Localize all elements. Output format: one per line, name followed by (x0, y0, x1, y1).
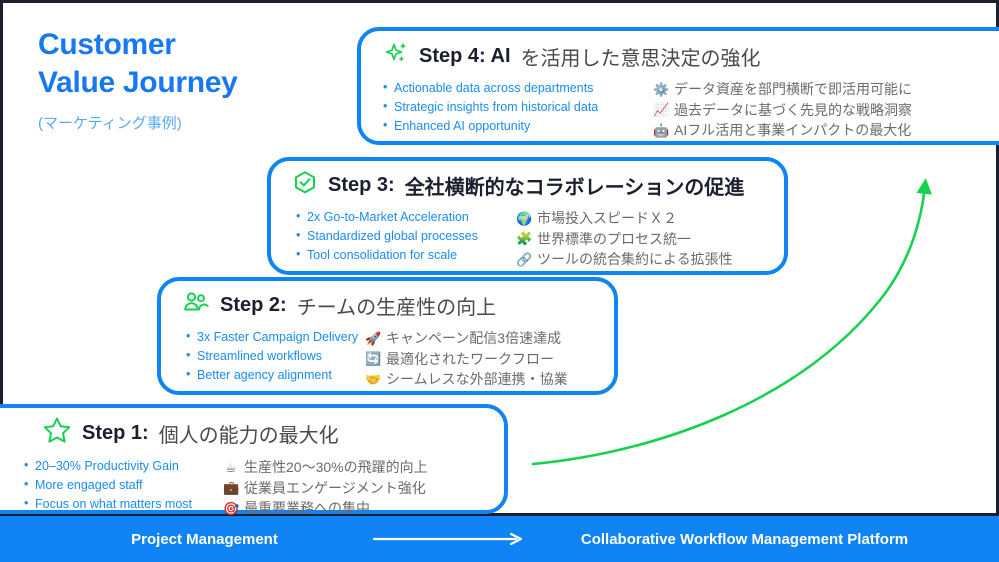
outcome-text: 生産性20〜30%の飛躍的向上 (244, 457, 428, 478)
gear-icon: ⚙️ (653, 80, 669, 99)
hexagon-check-icon (292, 170, 318, 201)
step-2-body: 3x Faster Campaign Delivery Streamlined … (186, 328, 614, 390)
step-4-header: Step 4: AI を活用した意思決定の強化 (383, 41, 999, 72)
bullet-item: Better agency alignment (186, 366, 359, 385)
step-3-header: Step 3: 全社横断的なコラボレーションの促進 (292, 170, 784, 201)
title-line-1: Customer (38, 26, 358, 64)
step-2-bullets: 3x Faster Campaign Delivery Streamlined … (186, 328, 359, 385)
outcome-item: 🤖 AIフル活用と事業インパクトの最大化 (653, 120, 912, 141)
outcome-item: 🚀 キャンペーン配信3倍速達成 (365, 328, 568, 349)
step-1-body: 20–30% Productivity Gain More engaged st… (24, 457, 504, 519)
step-3-label: Step 3: (328, 174, 395, 197)
step-1-label: Step 1: (82, 422, 149, 445)
outcome-text: 世界標準のプロセス統一 (537, 229, 691, 250)
arrow-right-icon (370, 531, 530, 547)
outcome-text: 従業員エンゲージメント強化 (244, 478, 426, 499)
outcome-text: データ資産を部門横断で即活用可能に (674, 79, 912, 100)
page-subtitle: (マーケティング事例) (38, 115, 358, 133)
step-3-outcomes: 🌍 市場投入スピードＸ２ 🧩 世界標準のプロセス統一 🔗 ツールの統合集約による… (516, 208, 733, 270)
step-2-header: Step 2: チームの生産性の向上 (182, 290, 614, 321)
bullet-item: 20–30% Productivity Gain (24, 457, 217, 476)
sparkles-icon (383, 41, 409, 72)
slide-canvas: Customer Value Journey (マーケティング事例) Step … (0, 0, 999, 562)
step-4-label: Step 4: AI (419, 45, 511, 68)
step-card-1[interactable]: Step 1: 個人の能力の最大化 20–30% Productivity Ga… (0, 404, 508, 514)
outcome-text: シームレスな外部連携・協業 (386, 369, 568, 390)
bottom-transition-bar: Project Management Collaborative Workflo… (0, 516, 999, 562)
outcome-item: 🔗 ツールの統合集約による拡張性 (516, 249, 733, 270)
handshake-icon: 🤝 (365, 370, 381, 389)
star-icon (42, 416, 72, 450)
step-2-outcomes: 🚀 キャンペーン配信3倍速達成 🔄 最適化されたワークフロー 🤝 シームレスな外… (365, 328, 568, 390)
outcome-text: 最適化されたワークフロー (386, 349, 554, 370)
step-1-outcomes: ☕ 生産性20〜30%の飛躍的向上 💼 従業員エンゲージメント強化 🎯 最重要業… (223, 457, 428, 519)
outcome-text: 過去データに基づく先見的な戦略洞察 (674, 100, 912, 121)
outcome-item: 🧩 世界標準のプロセス統一 (516, 229, 733, 250)
step-2-label: Step 2: (220, 294, 287, 317)
bullet-item: Tool consolidation for scale (296, 246, 510, 265)
globe-icon: 🌍 (516, 209, 532, 228)
step-3-body: 2x Go-to-Market Acceleration Standardize… (296, 208, 784, 270)
bullet-item: 2x Go-to-Market Acceleration (296, 208, 510, 227)
robot-icon: 🤖 (653, 121, 669, 140)
outcome-text: キャンペーン配信3倍速達成 (386, 328, 561, 349)
bar-left-label: Project Management (40, 531, 370, 548)
step-1-header: Step 1: 個人の能力の最大化 (42, 416, 504, 450)
step-card-2[interactable]: Step 2: チームの生産性の向上 3x Faster Campaign De… (157, 277, 618, 395)
page-title: Customer Value Journey (マーケティング事例) (38, 26, 358, 133)
step-4-body: Actionable data across departments Strat… (383, 79, 999, 141)
puzzle-icon: 🧩 (516, 229, 532, 248)
outcome-item: ⚙️ データ資産を部門横断で即活用可能に (653, 79, 912, 100)
outcome-item: 🔄 最適化されたワークフロー (365, 349, 568, 370)
outcome-text: 市場投入スピードＸ２ (537, 208, 677, 229)
step-2-title: チームの生産性の向上 (297, 291, 496, 320)
chart-up-icon: 📈 (653, 100, 669, 119)
bullet-item: Focus on what matters most (24, 495, 217, 514)
step-1-bullets: 20–30% Productivity Gain More engaged st… (24, 457, 217, 514)
sync-icon: 🔄 (365, 349, 381, 368)
step-1-title: 個人の能力の最大化 (159, 419, 339, 448)
bullet-item: Actionable data across departments (383, 79, 643, 98)
bullet-item: Standardized global processes (296, 227, 510, 246)
step-4-outcomes: ⚙️ データ資産を部門横断で即活用可能に 📈 過去データに基づく先見的な戦略洞察… (653, 79, 912, 141)
link-icon: 🔗 (516, 250, 532, 269)
people-icon (182, 290, 210, 321)
bar-right-label: Collaborative Workflow Management Platfo… (530, 531, 960, 548)
step-3-title: 全社横断的なコラボレーションの促進 (405, 171, 745, 200)
outcome-item: 🌍 市場投入スピードＸ２ (516, 208, 733, 229)
outcome-text: ツールの統合集約による拡張性 (537, 249, 733, 270)
step-4-title: を活用した意思決定の強化 (521, 42, 761, 71)
outcome-item: 🤝 シームレスな外部連携・協業 (365, 369, 568, 390)
step-card-4[interactable]: Step 4: AI を活用した意思決定の強化 Actionable data … (357, 27, 999, 145)
step-card-3[interactable]: Step 3: 全社横断的なコラボレーションの促進 2x Go-to-Marke… (267, 157, 788, 275)
bullet-item: 3x Faster Campaign Delivery (186, 328, 359, 347)
bullet-item: Streamlined workflows (186, 347, 359, 366)
outcome-item: ☕ 生産性20〜30%の飛躍的向上 (223, 457, 428, 478)
bullet-item: Strategic insights from historical data (383, 98, 643, 117)
outcome-text: AIフル活用と事業インパクトの最大化 (674, 120, 911, 141)
step-4-bullets: Actionable data across departments Strat… (383, 79, 643, 136)
title-line-2: Value Journey (38, 64, 358, 102)
step-3-bullets: 2x Go-to-Market Acceleration Standardize… (296, 208, 510, 265)
bullet-item: Enhanced AI opportunity (383, 117, 643, 136)
outcome-item: 💼 従業員エンゲージメント強化 (223, 478, 428, 499)
outcome-item: 📈 過去データに基づく先見的な戦略洞察 (653, 100, 912, 121)
coffee-icon: ☕ (223, 458, 239, 477)
rocket-icon: 🚀 (365, 329, 381, 348)
bullet-item: More engaged staff (24, 476, 217, 495)
briefcase-icon: 💼 (223, 478, 239, 497)
